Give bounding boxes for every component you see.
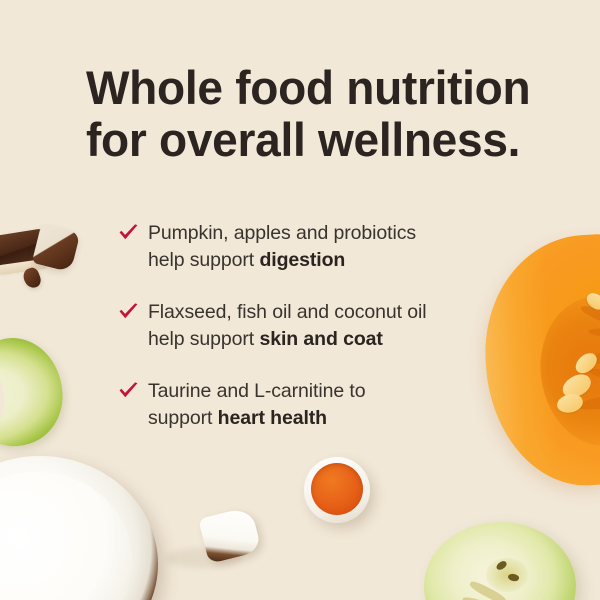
list-item-line-2: help support skin and coat [148, 326, 518, 353]
check-icon [118, 302, 139, 322]
fish-oil-bowl-image [304, 457, 370, 523]
check-icon [118, 223, 139, 243]
list-item-line-2-prefix: support [148, 407, 218, 429]
headline-line-1: Whole food nutrition [86, 62, 537, 114]
coconut-half-image [0, 456, 158, 600]
list-item-line-2-emphasis: digestion [259, 249, 345, 271]
list-item-line-2-prefix: help support [148, 249, 259, 271]
check-icon [118, 381, 139, 401]
apple-core [486, 558, 528, 592]
list-item-line-1: Taurine and L-carnitine to [148, 378, 518, 405]
page-title: Whole food nutrition for overall wellnes… [86, 62, 537, 166]
list-item-line-2: support heart health [148, 405, 518, 432]
green-apple-slice-image [0, 331, 70, 453]
list-item: Flaxseed, fish oil and coconut oil help … [118, 299, 518, 353]
list-item-line-1: Pumpkin, apples and probiotics [148, 220, 518, 247]
list-item: Taurine and L-carnitine to support heart… [118, 378, 518, 432]
list-item-line-2: help support digestion [148, 247, 518, 274]
list-item-line-2-prefix: help support [148, 328, 259, 350]
product-benefits-poster: Whole food nutrition for overall wellnes… [0, 0, 600, 600]
list-item-line-2-emphasis: heart health [218, 407, 327, 429]
coconut-chunk-image [198, 506, 262, 564]
list-item-line-2-emphasis: skin and coat [259, 328, 382, 350]
green-apple-half-image [424, 522, 576, 600]
list-item: Pumpkin, apples and probiotics help supp… [118, 220, 518, 274]
headline-line-2: for overall wellness. [86, 114, 537, 166]
list-item-line-1: Flaxseed, fish oil and coconut oil [148, 299, 518, 326]
benefits-list: Pumpkin, apples and probiotics help supp… [118, 220, 518, 432]
